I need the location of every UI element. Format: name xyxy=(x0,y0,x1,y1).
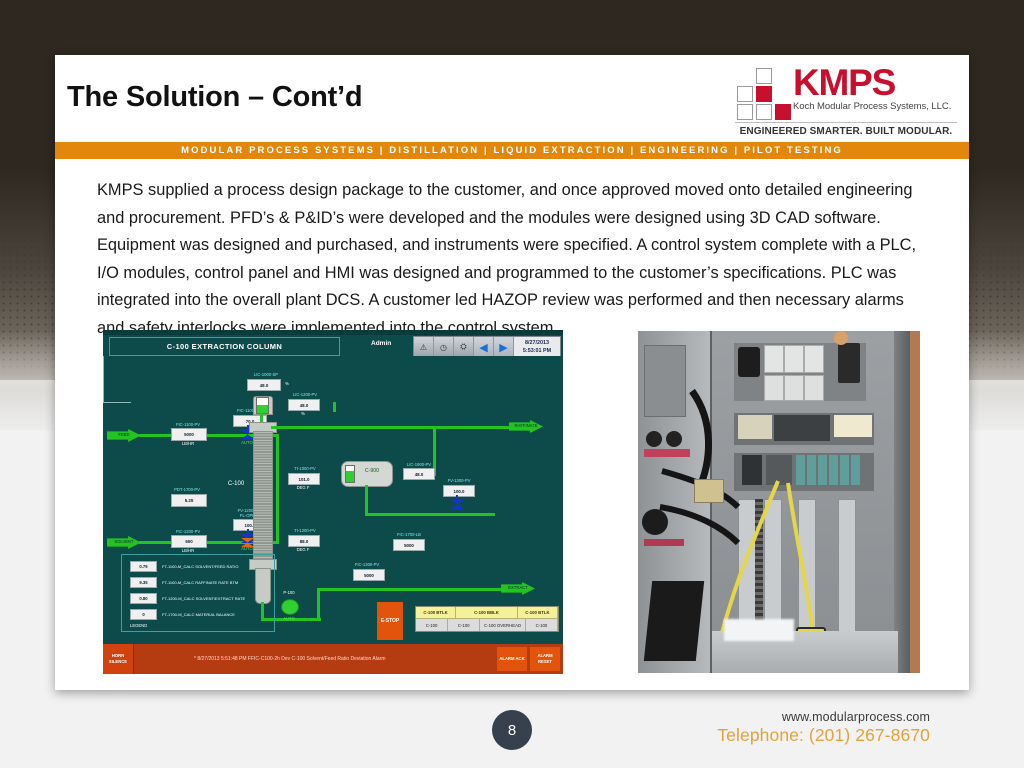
tag-fic-1100-id: FIC-1100-PV xyxy=(165,422,211,427)
logo-company-name: Koch Modular Process Systems, LLC. xyxy=(793,101,957,112)
website-link[interactable]: www.modularprocess.com xyxy=(610,710,930,724)
telephone-text: Telephone: (201) 267-8670 xyxy=(610,725,930,746)
tag-lic-1200-unit: % xyxy=(288,411,318,416)
tag-ti-1000-value[interactable]: 101.0 xyxy=(288,473,320,485)
legend-value: 9.35 xyxy=(130,577,157,588)
nav-table: C-100 BTLK C-100 BBLK C-100 BTLK C-100 C… xyxy=(415,606,559,632)
alarm-message: * 8/27/2013 5:51:48 PM FFIC-C100-2h Dev … xyxy=(134,656,497,662)
tag-ti-1200-unit: DEG F xyxy=(288,547,318,552)
nav-button[interactable]: C-100 OVERHEAD xyxy=(480,618,526,631)
tag-fic-1200-unit: LB/HR xyxy=(171,548,205,553)
legend-item: 0.79 FT-1100-M_CALC SOLVENT/FEED RATIO xyxy=(130,561,238,572)
vessel-c900-level-glass xyxy=(345,465,355,483)
extract-out-pipe xyxy=(319,588,504,591)
hmi-clock: 8/27/2013 5:53:01 PM xyxy=(514,337,560,357)
overhead-pipe xyxy=(271,426,436,429)
tag-fic-1300-id: FIC-1300-PV xyxy=(343,562,391,567)
legend-label: FT-1200-M_CALC SOLVENT/EXTRACT RATE xyxy=(162,596,245,601)
legend-label: FT-1100-M_CALC RAFFINATE RATE BTM xyxy=(162,580,238,585)
pump-discharge-riser xyxy=(317,588,320,618)
pump-p100-mode: AUTO xyxy=(277,616,301,621)
legend-item: 0 FT-1700-M_CALC MATERIAL BALANCE xyxy=(130,609,235,620)
tag-fv-1300-id: FV-1300-PV xyxy=(433,478,485,483)
tag-ti-1000-unit: DEG F xyxy=(288,485,318,490)
raffinate-pipe xyxy=(433,426,513,429)
tag-fic-1300-value[interactable]: 5000 xyxy=(353,569,385,581)
legend-item: 0.80 FT-1200-M_CALC SOLVENT/EXTRACT RATE xyxy=(130,593,245,604)
column-top-level-fill xyxy=(257,405,268,413)
trend-icon[interactable]: ⛭ xyxy=(454,337,474,357)
tag-fic-1100-value[interactable]: 5000 xyxy=(171,428,207,441)
tag-ti-1000-id: TI-1000-PV xyxy=(281,466,329,471)
vessel-c900-label: C-900 xyxy=(358,469,386,474)
tag-lic-1000-value[interactable]: 48.0 xyxy=(247,379,281,391)
history-icon[interactable]: ◷ xyxy=(434,337,454,357)
media-row: C-100 EXTRACTION COLUMN Admin ⚠ ◷ ⛭ ◀ ▶ … xyxy=(55,330,969,682)
column-top-level-glass xyxy=(256,397,269,414)
legend-label: FT-1100-M_CALC SOLVENT/FEED RATIO xyxy=(162,564,238,569)
legend-title: LEGEND xyxy=(130,623,160,628)
legend-value: 0.79 xyxy=(130,561,157,572)
vessel-c900-level-fill xyxy=(346,471,354,482)
photo-floor-highlight xyxy=(724,619,794,641)
fic-1100-signal-line-h xyxy=(103,402,131,403)
tag-fic-1700-id: FIC-1700-LB xyxy=(385,532,433,537)
tag-pdt-1700-value[interactable]: 5.25 xyxy=(171,494,207,507)
column-label: C-100 xyxy=(223,482,249,487)
legend-value: 0.80 xyxy=(130,593,157,604)
hmi-screenshot: C-100 EXTRACTION COLUMN Admin ⚠ ◷ ⛭ ◀ ▶ … xyxy=(103,330,563,674)
page-number-badge: 8 xyxy=(492,710,532,750)
alarm-reset-button[interactable]: ALARM RESET xyxy=(530,647,560,671)
body-paragraph: KMPS supplied a process design package t… xyxy=(97,177,935,342)
pdt-signal-line xyxy=(103,356,104,386)
estop-button[interactable]: E-STOP xyxy=(377,602,403,640)
logo-divider xyxy=(735,122,957,123)
control-panel-photo xyxy=(638,331,920,673)
kmps-logo: KMPS Koch Modular Process Systems, LLC. … xyxy=(735,65,957,137)
page-title: The Solution – Cont’d xyxy=(67,81,362,114)
nav-button[interactable]: C-100 xyxy=(448,618,480,631)
nav-header-cell: C-100 BTLK xyxy=(518,607,558,618)
hmi-process-canvas: FEED SOLVENT FIC-1100-PV 5000 LB/HR FIC-… xyxy=(103,356,563,644)
tag-lic-1900-value[interactable]: 48.0 xyxy=(403,468,435,480)
solvent-stream-label: SOLVENT xyxy=(110,539,138,544)
slide-card: The Solution – Cont’d KMPS Koch Modular … xyxy=(55,55,969,690)
tag-lic-1000-id: LIC-1000-SP xyxy=(240,372,292,377)
legend-label: FT-1700-M_CALC MATERIAL BALANCE xyxy=(162,612,235,617)
slide-header: The Solution – Cont’d KMPS Koch Modular … xyxy=(55,55,969,142)
slide-body: KMPS supplied a process design package t… xyxy=(55,159,969,690)
extract-header-pipe xyxy=(365,513,495,516)
legend-value: 0 xyxy=(130,609,157,620)
fv-1300-valve-icon[interactable] xyxy=(451,500,464,509)
horn-silence-button[interactable]: HORN SILENCE xyxy=(103,644,134,674)
tag-fic-1200-id: FIC-1200-PV xyxy=(165,529,211,534)
tag-ti-1200-value[interactable]: 88.0 xyxy=(288,535,320,547)
nav-button[interactable]: C-100 xyxy=(526,618,558,631)
tag-fic-1100-unit: LB/HR xyxy=(171,441,205,446)
fv-1300-stem xyxy=(456,495,458,500)
next-page-icon[interactable]: ▶ xyxy=(494,337,514,357)
nav-button[interactable]: C-100 xyxy=(416,618,448,631)
tag-fic-1200-value[interactable]: 600 xyxy=(171,535,207,548)
tag-lic-1000-unit: % xyxy=(282,381,292,386)
tag-ti-1200-id: TI-1200-PV xyxy=(281,528,329,533)
tag-lic-1900-id: LIC-1900-PV xyxy=(399,462,439,467)
tag-pdt-1700-id: PDT-1700-PV xyxy=(161,487,213,492)
raffinate-stream-label: RAFFINATE xyxy=(512,423,540,428)
fic-1100-signal-line xyxy=(103,386,104,402)
tag-fic-1700-value[interactable]: 5000 xyxy=(393,539,425,551)
hmi-title-bar: C-100 EXTRACTION COLUMN Admin ⚠ ◷ ⛭ ◀ ▶ … xyxy=(103,335,563,356)
tag-fv-1300-value[interactable]: 100.0 xyxy=(443,485,475,497)
nav-table-header-row: C-100 BTLK C-100 BBLK C-100 BTLK xyxy=(416,607,558,618)
nav-header-cell: C-100 BTLK xyxy=(416,607,456,618)
hmi-toolbar: ⚠ ◷ ⛭ ◀ ▶ 8/27/2013 5:53:01 PM xyxy=(413,336,561,358)
hmi-status-bar: HORN SILENCE * 8/27/2013 5:51:48 PM FFIC… xyxy=(103,644,563,674)
logo-squares-icon xyxy=(735,68,791,120)
services-banner-text: MODULAR PROCESS SYSTEMS | DISTILLATION |… xyxy=(181,145,843,156)
feed-stream-label: FEED xyxy=(113,432,135,437)
fv-1200-stem xyxy=(247,529,249,534)
logo-wordmark: KMPS xyxy=(793,65,957,100)
photo-junction-box xyxy=(694,479,724,503)
logo-tagline: ENGINEERED SMARTER. BUILT MODULAR. xyxy=(735,126,957,137)
legend-item: 9.35 FT-1100-M_CALC RAFFINATE RATE BTM xyxy=(130,577,238,588)
alarm-ack-button[interactable]: ALARM ACK xyxy=(497,647,527,671)
pump-p100-label: P-100 xyxy=(275,590,303,595)
slide-page: The Solution – Cont’d KMPS Koch Modular … xyxy=(0,0,1024,768)
overhead-drop xyxy=(333,402,336,412)
legend-panel: 0.79 FT-1100-M_CALC SOLVENT/FEED RATIO 9… xyxy=(121,554,275,632)
extract-stream-label: EXTRACT xyxy=(505,585,531,590)
riser-pipe xyxy=(276,434,279,541)
services-banner: MODULAR PROCESS SYSTEMS | DISTILLATION |… xyxy=(55,142,969,159)
column-packed-section xyxy=(253,431,273,561)
tag-lic-1200-id: LIC-1200-PV xyxy=(281,392,329,397)
hmi-user-label: Admin xyxy=(371,340,391,347)
hmi-screen-title: C-100 EXTRACTION COLUMN xyxy=(109,337,340,356)
hmi-clock-time: 5:53:01 PM xyxy=(514,347,560,355)
tag-lic-1200-value[interactable]: 48.0 xyxy=(288,399,320,411)
hmi-clock-date: 8/27/2013 xyxy=(514,339,560,347)
c900-outlet-pipe xyxy=(365,485,368,515)
nav-table-button-row: C-100 C-100 C-100 OVERHEAD C-100 xyxy=(416,618,558,631)
prev-page-icon[interactable]: ◀ xyxy=(474,337,494,357)
pump-p100-icon[interactable] xyxy=(281,599,299,615)
nav-header-cell: C-100 BBLK xyxy=(456,607,518,618)
alarm-icon[interactable]: ⚠ xyxy=(414,337,434,357)
contact-block: www.modularprocess.com Telephone: (201) … xyxy=(610,710,930,746)
